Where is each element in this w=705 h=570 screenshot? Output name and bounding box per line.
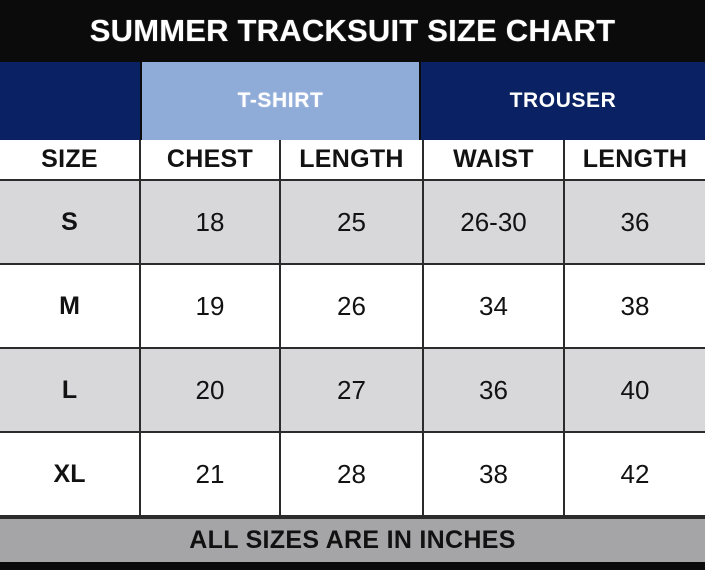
cell-waist: 26-30 bbox=[423, 180, 564, 264]
column-header-tshirt-length: LENGTH bbox=[280, 140, 423, 180]
footer-note-band: ALL SIZES ARE IN INCHES bbox=[0, 517, 705, 562]
cell-trouser-length: 38 bbox=[564, 264, 705, 348]
cell-tshirt-length: 27 bbox=[280, 348, 423, 432]
cell-size: S bbox=[0, 180, 140, 264]
cell-tshirt-length: 28 bbox=[280, 432, 423, 516]
cell-waist: 36 bbox=[423, 348, 564, 432]
size-table: SIZE CHEST LENGTH WAIST LENGTH S 18 25 2… bbox=[0, 140, 705, 517]
table-row: L 20 27 36 40 bbox=[0, 348, 705, 432]
cell-chest: 18 bbox=[140, 180, 280, 264]
column-header-waist: WAIST bbox=[423, 140, 564, 180]
cell-trouser-length: 40 bbox=[564, 348, 705, 432]
cell-waist: 34 bbox=[423, 264, 564, 348]
cell-chest: 19 bbox=[140, 264, 280, 348]
column-header-trouser-length: LENGTH bbox=[564, 140, 705, 180]
cell-waist: 38 bbox=[423, 432, 564, 516]
column-header-chest: CHEST bbox=[140, 140, 280, 180]
group-header-row: T-SHIRT TROUSER bbox=[0, 62, 705, 140]
cell-chest: 21 bbox=[140, 432, 280, 516]
size-chart-root: SUMMER TRACKSUIT SIZE CHART T-SHIRT TROU… bbox=[0, 0, 705, 570]
cell-size: XL bbox=[0, 432, 140, 516]
cell-trouser-length: 36 bbox=[564, 180, 705, 264]
group-header-trouser: TROUSER bbox=[421, 62, 705, 140]
cell-trouser-length: 42 bbox=[564, 432, 705, 516]
group-header-tshirt: T-SHIRT bbox=[140, 62, 421, 140]
cell-size: L bbox=[0, 348, 140, 432]
bottom-strip bbox=[0, 562, 705, 570]
footer-note: ALL SIZES ARE IN INCHES bbox=[189, 526, 515, 555]
cell-size: M bbox=[0, 264, 140, 348]
column-header-size: SIZE bbox=[0, 140, 140, 180]
cell-tshirt-length: 25 bbox=[280, 180, 423, 264]
cell-tshirt-length: 26 bbox=[280, 264, 423, 348]
group-header-blank bbox=[0, 62, 140, 140]
table-row: M 19 26 34 38 bbox=[0, 264, 705, 348]
table-row: S 18 25 26-30 36 bbox=[0, 180, 705, 264]
page-title: SUMMER TRACKSUIT SIZE CHART bbox=[90, 13, 616, 49]
column-header-row: SIZE CHEST LENGTH WAIST LENGTH bbox=[0, 140, 705, 180]
table-row: XL 21 28 38 42 bbox=[0, 432, 705, 516]
chart-title-band: SUMMER TRACKSUIT SIZE CHART bbox=[0, 0, 705, 62]
cell-chest: 20 bbox=[140, 348, 280, 432]
